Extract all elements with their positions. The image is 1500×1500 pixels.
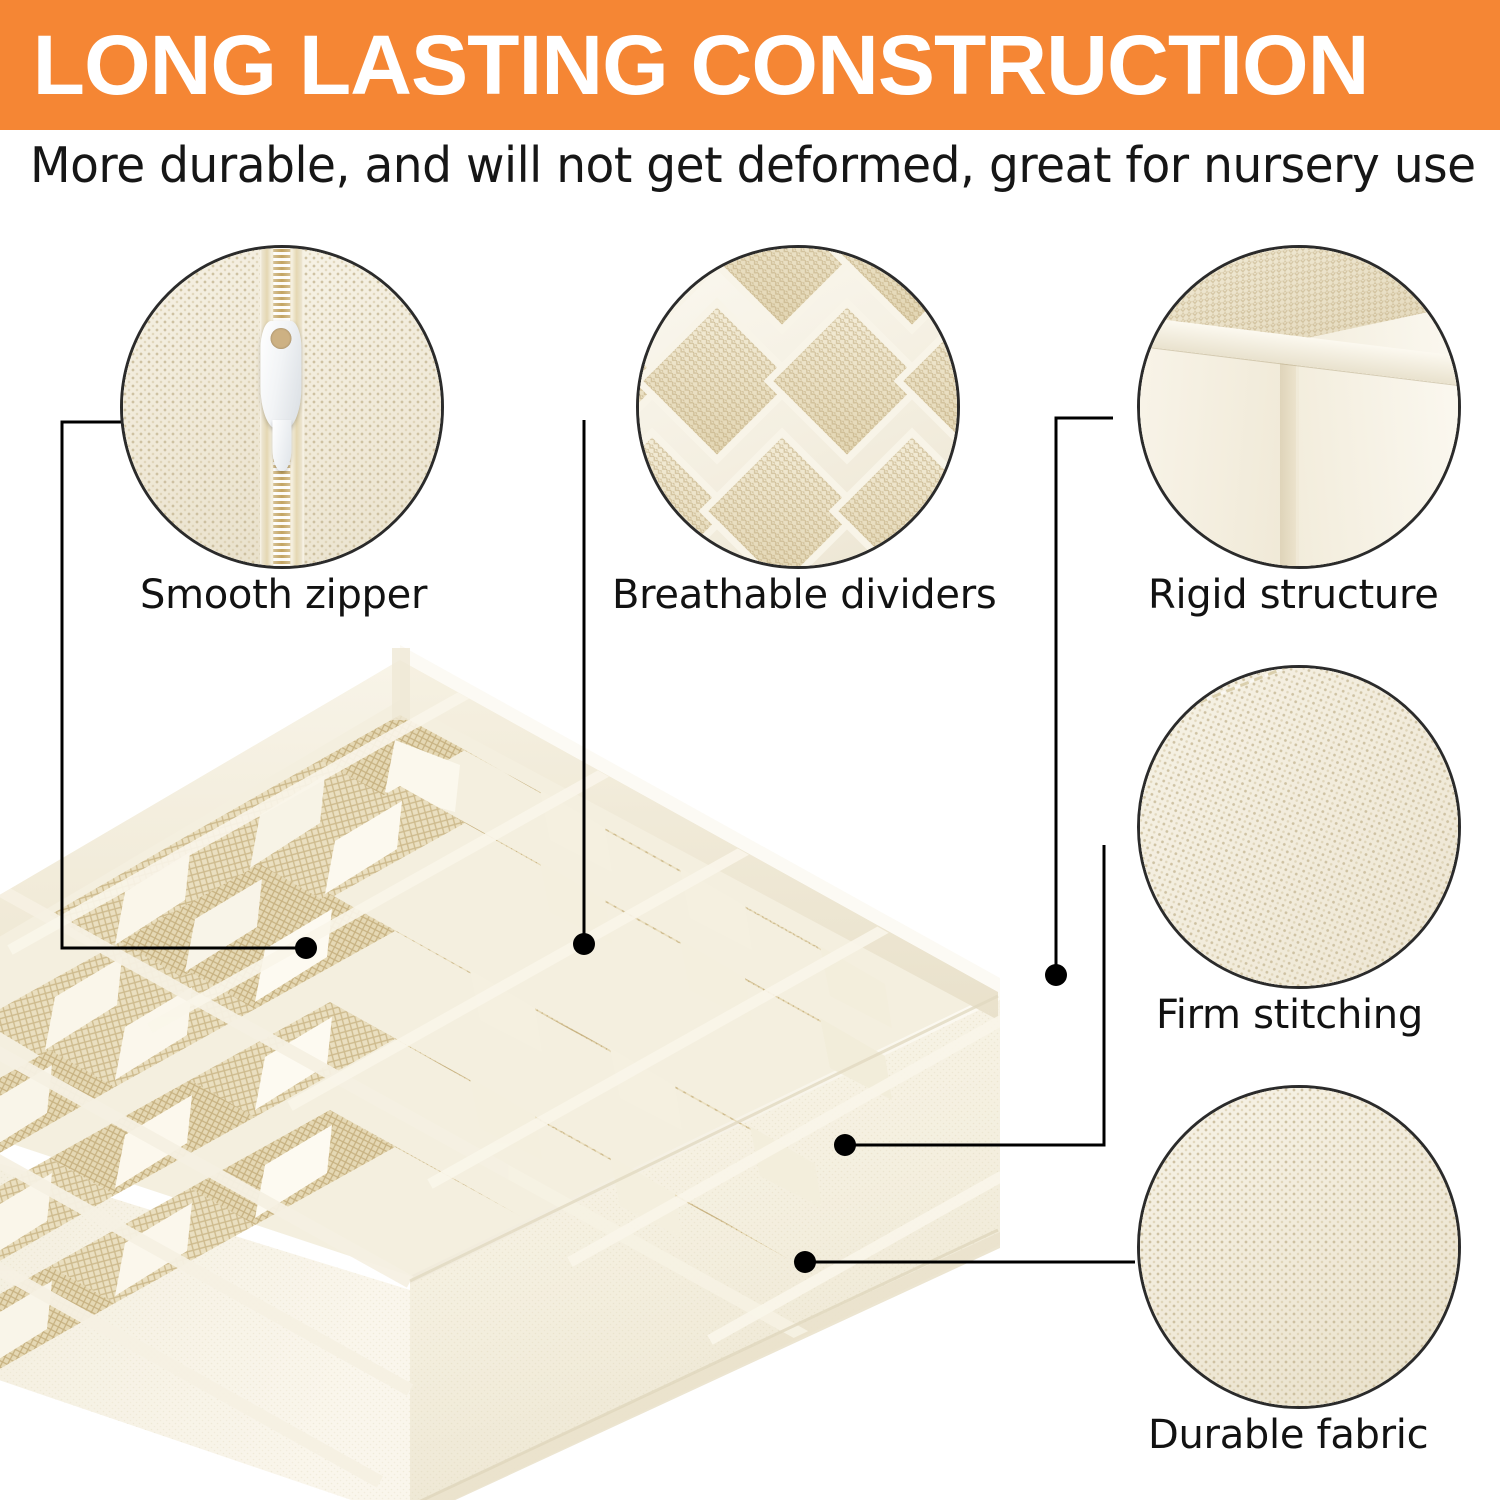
corner-vertical-edge xyxy=(1280,356,1296,569)
callout-label-durable-fabric: Durable fabric xyxy=(1148,1412,1428,1458)
leader-dot-durable-fabric xyxy=(794,1251,816,1273)
callout-label-smooth-zipper: Smooth zipper xyxy=(140,572,427,618)
dividers-closeup xyxy=(639,248,957,566)
corner-wall-right xyxy=(1299,296,1461,569)
leader-firm-stitching xyxy=(848,845,1104,1145)
callout-label-firm-stitching: Firm stitching xyxy=(1156,992,1423,1038)
stitching-fabric-panel xyxy=(1137,665,1461,989)
fabric-weave-closeup xyxy=(1140,1088,1458,1406)
rigid-structure-closeup xyxy=(1140,248,1458,566)
callout-label-rigid-structure: Rigid structure xyxy=(1148,572,1439,618)
zipper-closeup xyxy=(123,248,441,566)
leader-dot-rigid-structure xyxy=(1045,964,1067,986)
callout-rigid-structure-image xyxy=(1137,245,1461,569)
zipper-pull-tab xyxy=(272,420,291,471)
infographic-canvas: LONG LASTING CONSTRUCTION More durable, … xyxy=(0,0,1500,1500)
zipper-fabric-right xyxy=(304,245,444,569)
callout-durable-fabric-image xyxy=(1137,1085,1461,1409)
callout-breathable-dividers-image xyxy=(636,245,960,569)
callout-label-breathable-dividers: Breathable dividers xyxy=(612,572,996,618)
leader-dot-smooth-zipper xyxy=(295,937,317,959)
stitching-closeup xyxy=(1140,668,1458,986)
callout-firm-stitching-image xyxy=(1137,665,1461,989)
callout-smooth-zipper-image xyxy=(120,245,444,569)
divider-diamond-grid xyxy=(636,245,960,569)
leader-dot-breathable-dividers xyxy=(573,933,595,955)
leader-dot-firm-stitching xyxy=(834,1134,856,1156)
zipper-fabric-left xyxy=(120,245,260,569)
zipper-slider-icon xyxy=(261,321,302,429)
